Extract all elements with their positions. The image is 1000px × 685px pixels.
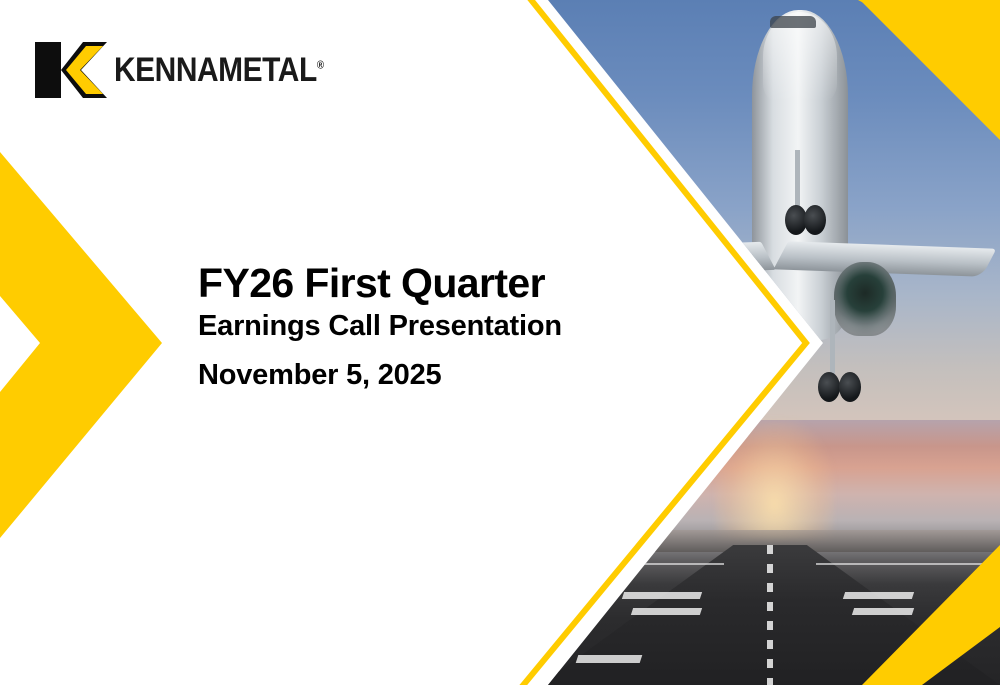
sunset-glow (715, 420, 835, 540)
runway-edge-line (816, 563, 991, 565)
runway-edge-line (549, 563, 724, 565)
runway-marking (575, 655, 642, 663)
runway-centerline (767, 545, 773, 685)
yellow-chevron-left (0, 0, 200, 685)
runway-marking (842, 592, 913, 599)
nose-gear-tire (804, 205, 826, 235)
airplane-engine-right (834, 262, 896, 336)
main-gear-tire (839, 372, 861, 402)
runway-marking (622, 592, 702, 599)
slide-subtitle: Earnings Call Presentation (198, 311, 618, 343)
airplane-cockpit-windows (770, 16, 816, 28)
presentation-slide: KENNAMETAL® FY26 First Quarter Earnings … (0, 0, 1000, 685)
kennametal-logo: KENNAMETAL® (35, 42, 352, 98)
main-gear-tire (818, 372, 840, 402)
airplane-engine-left (632, 262, 694, 336)
kennametal-wordmark-text: KENNAMETAL (114, 51, 317, 89)
registered-trademark-symbol: ® (317, 59, 324, 71)
kennametal-k-mark (35, 42, 107, 98)
slide-date: November 5, 2025 (198, 360, 618, 392)
runway-marking (631, 608, 702, 615)
title-block: FY26 First Quarter Earnings Call Present… (198, 262, 618, 392)
slide-title: FY26 First Quarter (198, 262, 618, 305)
kennametal-wordmark: KENNAMETAL® (114, 51, 324, 90)
runway-marking (852, 608, 914, 615)
